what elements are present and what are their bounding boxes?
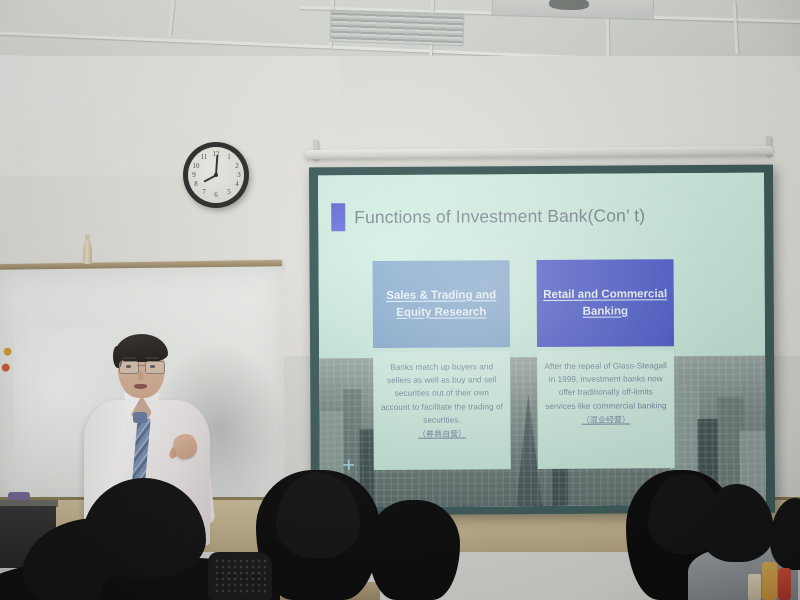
- presenter-mouth: [134, 384, 147, 389]
- backpack-texture: [214, 558, 266, 594]
- slide-body-text-cn: （券商自营）: [381, 427, 504, 441]
- slide-body-text: Banks match up buyers and sellers as wel…: [380, 360, 503, 427]
- snack-on-desk-yellow: [762, 562, 777, 600]
- projector-screen-surface: Functions of Investment Bank(Con’ t) Sal…: [318, 173, 766, 508]
- ceiling-air-vent: [329, 10, 464, 47]
- presentation-slide: Functions of Investment Bank(Con’ t) Sal…: [318, 173, 766, 508]
- wall-clock: 12 1 2 3 4 5 6 7 8 9 10 11: [183, 142, 249, 208]
- ac-grille-icon: [549, 0, 589, 10]
- backpack-on-desk: [208, 552, 272, 600]
- student-front-right: [368, 500, 460, 600]
- bottle-on-whiteboard-ledge: [83, 240, 92, 264]
- slide-body-text: After the repeal of Glass-Steagall in 19…: [544, 359, 667, 413]
- snack-on-desk-white: [748, 574, 761, 600]
- slide-body-text-cn: （混业经营）: [544, 413, 667, 427]
- glasses-bridge: [137, 365, 145, 366]
- eyeglasses-icon: [117, 361, 167, 373]
- slide-title: Functions of Investment Bank(Con’ t): [354, 201, 734, 231]
- slide-card-heading: Sales & Trading and Equity Research: [373, 287, 510, 322]
- slide-card-retail-commercial: Retail and Commercial Banking: [537, 259, 675, 347]
- slide-card-heading: Retail and Commercial Banking: [537, 286, 674, 321]
- magnet-yellow-icon: [3, 348, 11, 356]
- slide-body-column-right: After the repeal of Glass-Steagall in 19…: [537, 350, 675, 469]
- lens-right: [145, 361, 165, 374]
- slide-card-sales-trading: Sales & Trading and Equity Research: [373, 260, 511, 348]
- slide-title-accent-bar: [331, 203, 345, 231]
- slide-plus-mark: +: [340, 456, 358, 474]
- clock-center-pin: [214, 173, 218, 177]
- ceiling-air-conditioner: [492, 0, 655, 20]
- slide-body-column-left: Banks match up buyers and sellers as wel…: [373, 351, 511, 470]
- lens-left: [119, 361, 139, 374]
- projector-screen: Functions of Investment Bank(Con’ t) Sal…: [309, 165, 775, 516]
- clock-face: 12 1 2 3 4 5 6 7 8 9 10 11: [188, 147, 244, 203]
- presenter-tie-knot: [133, 412, 147, 423]
- magnet-red-icon: [2, 364, 10, 372]
- snack-on-desk-red: [778, 568, 791, 600]
- classroom-photo: 12 1 2 3 4 5 6 7 8 9 10 11: [0, 0, 800, 600]
